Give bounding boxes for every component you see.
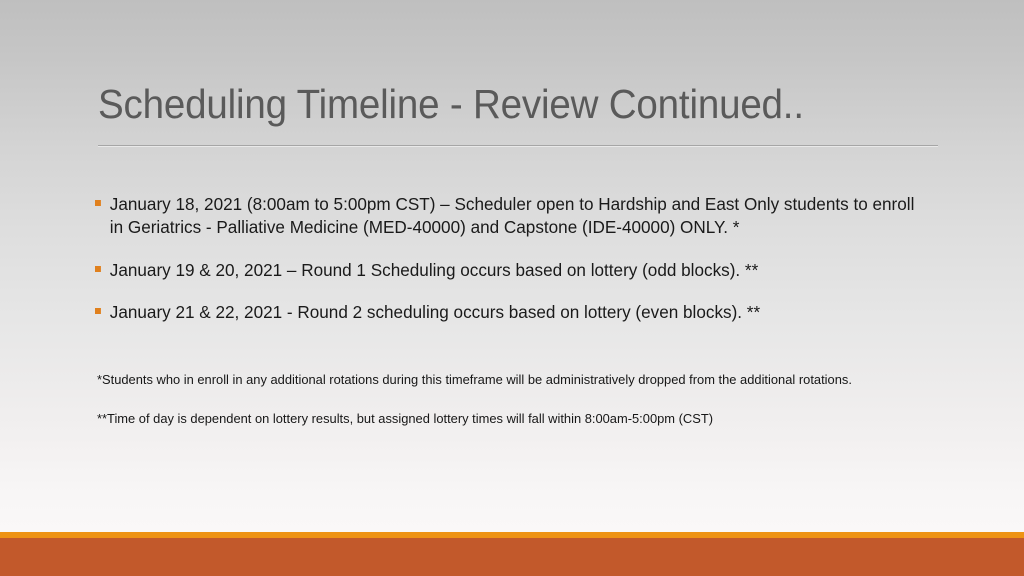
square-bullet-icon [95,308,101,314]
list-item: January 19 & 20, 2021 – Round 1 Scheduli… [95,259,927,282]
title-block: Scheduling Timeline - Review Continued.. [98,82,940,128]
presentation-slide: Scheduling Timeline - Review Continued..… [0,0,1024,576]
footnote-double-asterisk: **Time of day is dependent on lottery re… [97,410,915,429]
footnote-single-asterisk: *Students who in enroll in any additiona… [97,371,915,390]
square-bullet-icon [95,200,101,206]
square-bullet-icon [95,266,101,272]
list-item-text: January 18, 2021 (8:00am to 5:00pm CST) … [110,194,915,237]
page-title: Scheduling Timeline - Review Continued.. [98,82,889,128]
footnote-block: *Students who in enroll in any additiona… [97,371,927,428]
list-item-text: January 19 & 20, 2021 – Round 1 Scheduli… [110,260,758,280]
list-item: January 21 & 22, 2021 - Round 2 scheduli… [95,301,927,324]
list-item-text: January 21 & 22, 2021 - Round 2 scheduli… [110,302,760,322]
list-item: January 18, 2021 (8:00am to 5:00pm CST) … [95,193,927,240]
accent-band [0,538,1024,576]
title-underline-rule [98,145,938,146]
bullet-list: January 18, 2021 (8:00am to 5:00pm CST) … [95,193,940,324]
